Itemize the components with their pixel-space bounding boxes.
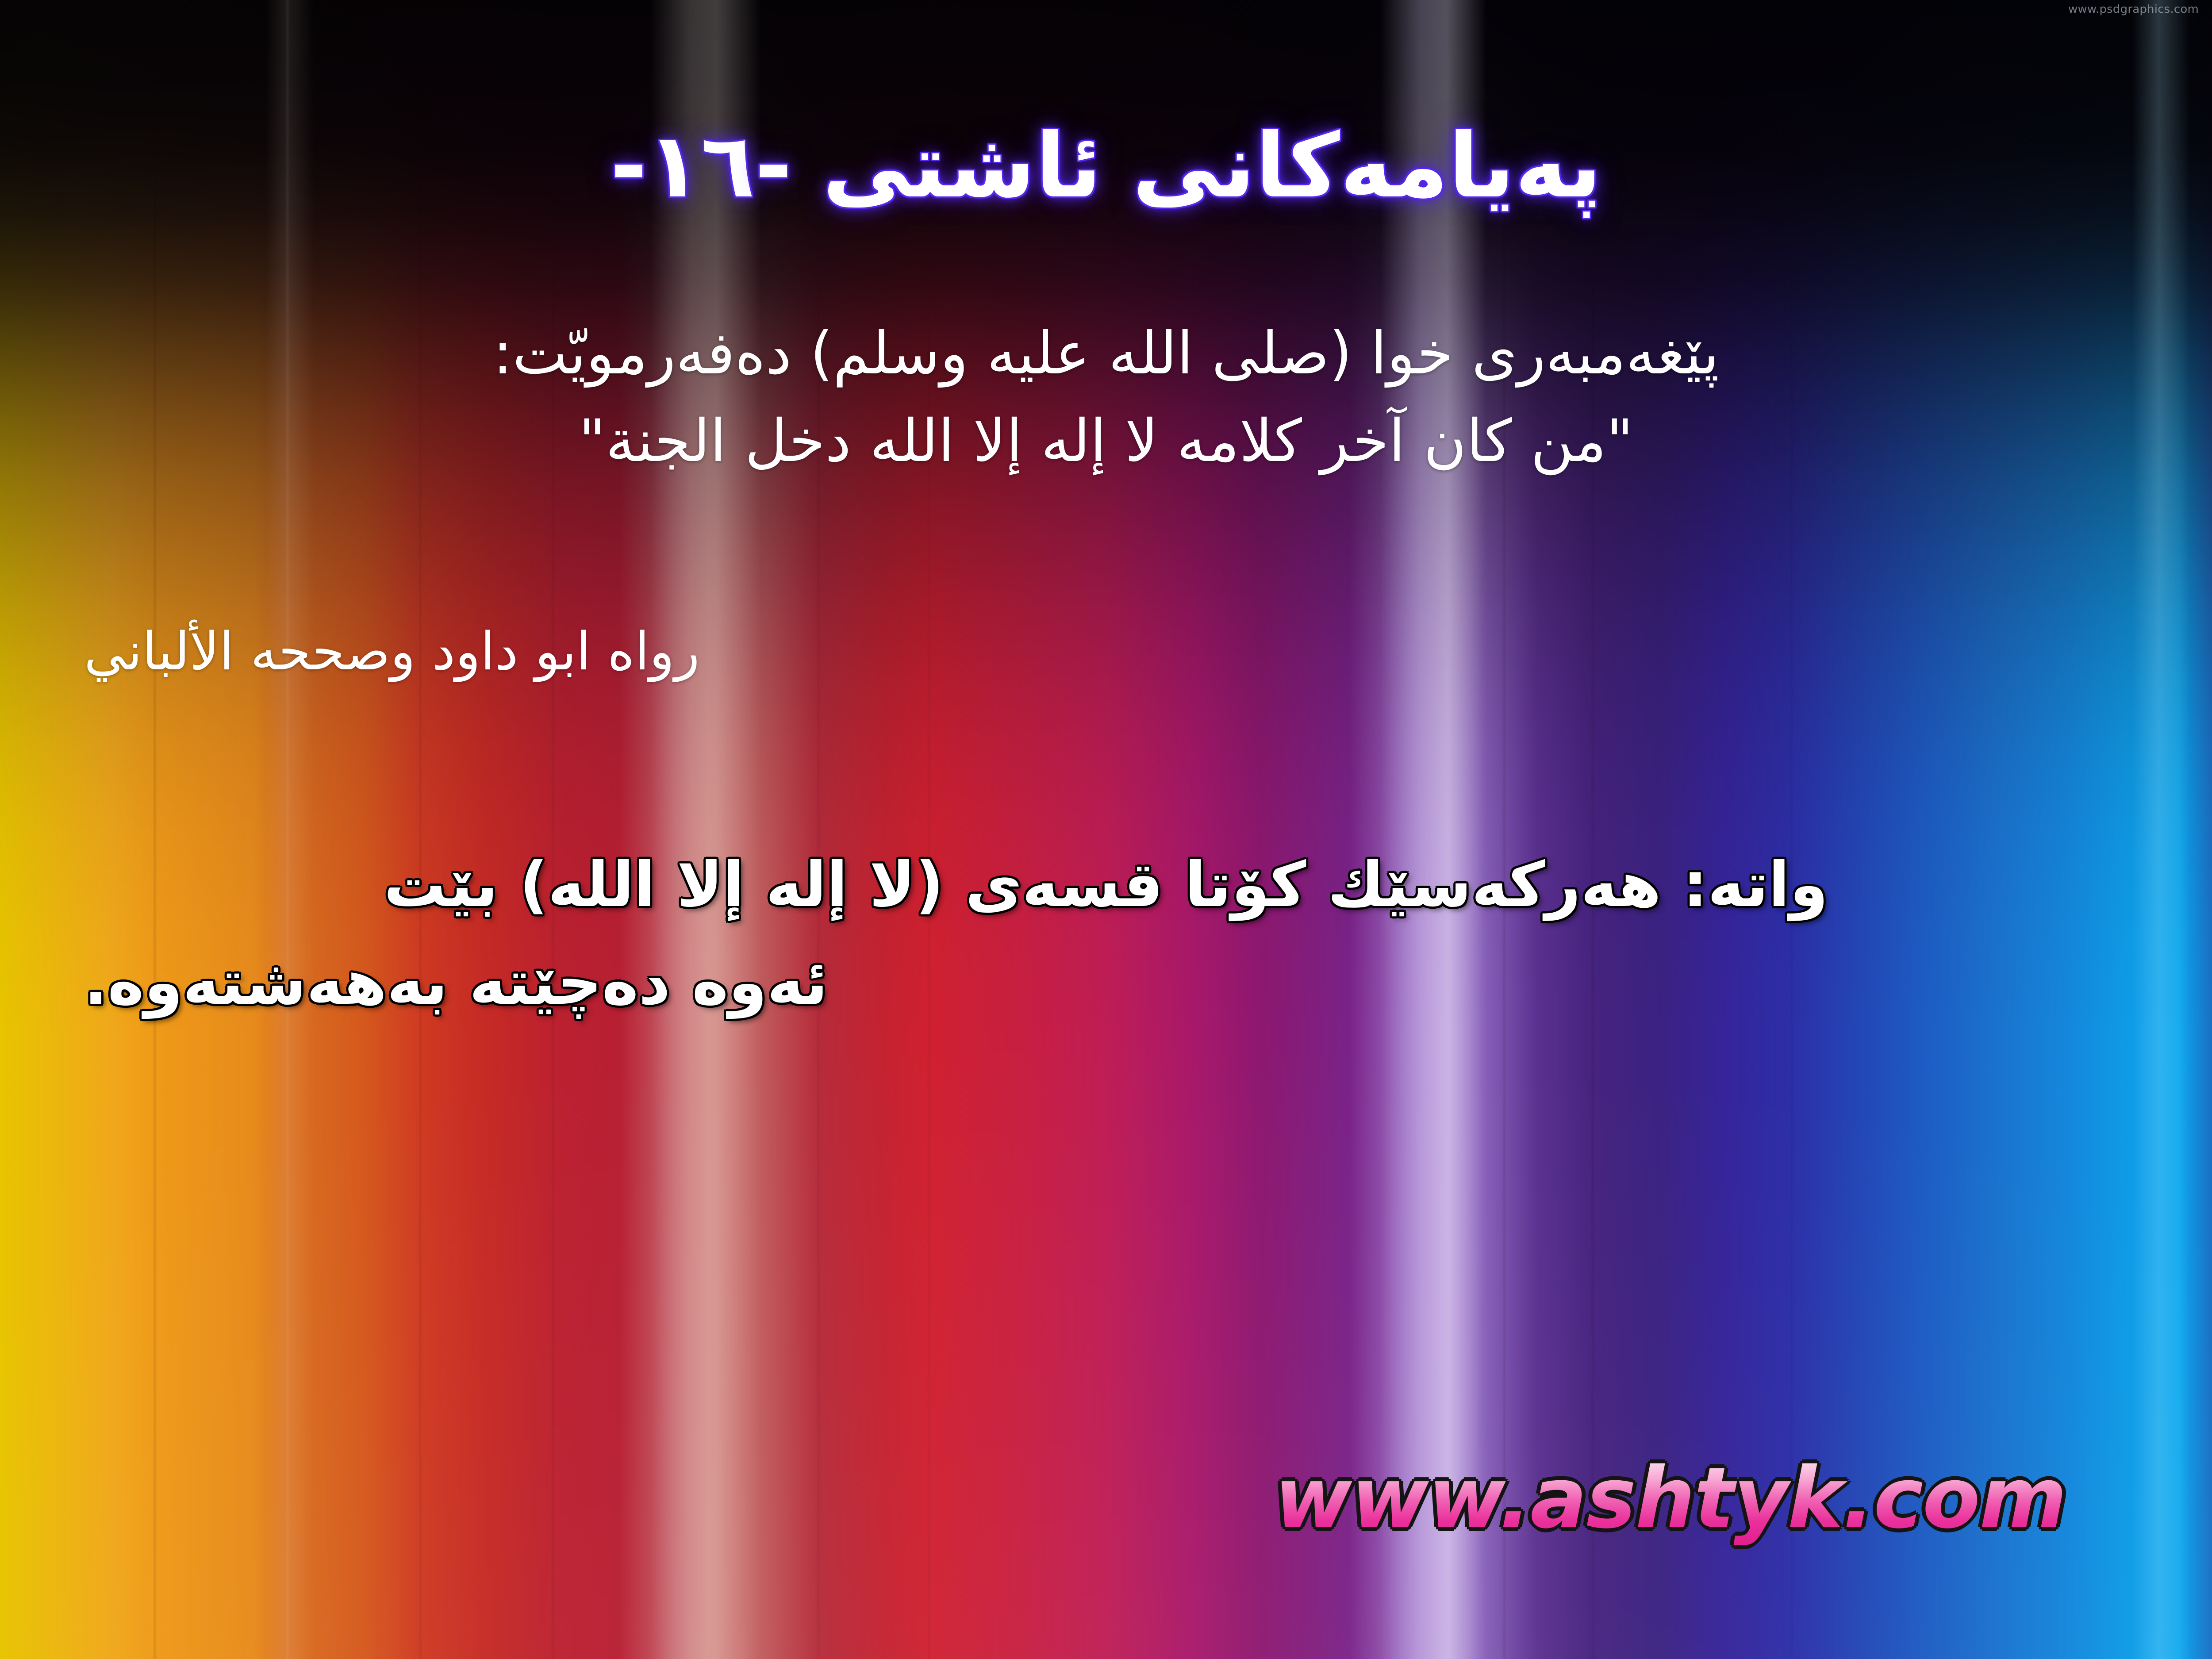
- hadith-block: پێغەمبەری خوا (صلى الله عليه وسلم) دەفەر…: [84, 310, 2128, 485]
- site-url-label: www.ashtyk.com: [1274, 1449, 2066, 1547]
- site-url[interactable]: www.ashtyk.com www.ashtyk.com: [1274, 1456, 2066, 1540]
- hadith-arabic-text: "من كان آخر كلامه لا إله إلا الله دخل ال…: [84, 397, 2128, 485]
- hadith-intro-line: پێغەمبەری خوا (صلى الله عليه وسلم) دەفەر…: [84, 310, 2128, 397]
- meaning-line-1: واتە: هەركەسێك کۆتا قسەی (لا إله إلا الل…: [84, 836, 2128, 934]
- hadith-attribution: رواه ابو داود وصححه الألباني: [84, 615, 2128, 688]
- page-title: پەیامەکانی ئاشتى -١٦-: [0, 117, 2212, 216]
- poster-canvas: www.psdgraphics.com پەیامەکانی ئاشتى -١٦…: [0, 0, 2212, 1659]
- psdgraphics-watermark: www.psdgraphics.com: [2068, 3, 2199, 16]
- meaning-block: واتە: هەركەسێك کۆتا قسەی (لا إله إلا الل…: [84, 836, 2128, 1032]
- poster-content: www.psdgraphics.com پەیامەکانی ئاشتى -١٦…: [0, 0, 2212, 1659]
- meaning-line-2: ئەوە دەچێتە بەهەشتەوە.: [84, 934, 2128, 1032]
